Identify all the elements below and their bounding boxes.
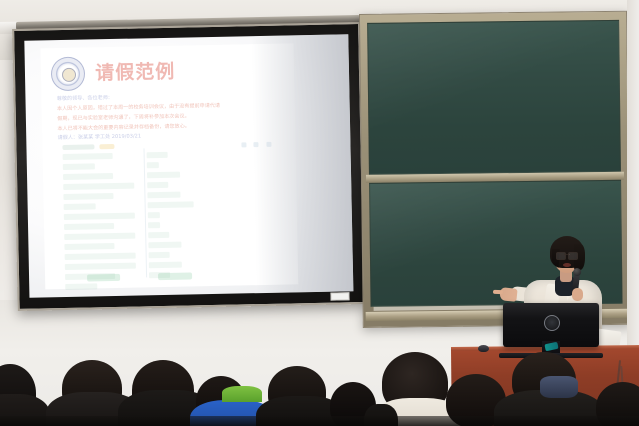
lecturer-right-hand (572, 288, 583, 301)
form-row (147, 182, 168, 188)
audience-foreground-shadow (0, 416, 639, 426)
form-row (148, 192, 180, 199)
form-toolbar (62, 142, 187, 151)
form-row (65, 283, 97, 290)
form-row (63, 183, 134, 190)
form-row (65, 263, 136, 270)
form-row (64, 223, 114, 230)
slide-header: 请假范例 (51, 48, 284, 91)
form-row (149, 262, 181, 269)
slide-form-screenshot (58, 140, 283, 285)
blackboard-panel-upper[interactable] (367, 20, 621, 175)
form-row (149, 242, 181, 249)
screen-unlit-band (251, 34, 353, 293)
screen-brand-label (330, 292, 349, 300)
form-row (63, 193, 113, 200)
lecturer-mouth (563, 263, 571, 267)
right-wall-strip (627, 0, 639, 350)
form-row (62, 153, 112, 160)
form-row (147, 172, 179, 179)
form-row (147, 152, 168, 158)
form-row (63, 203, 95, 210)
form-submit-button (87, 274, 120, 282)
form-row (64, 253, 135, 260)
toolbar-pill-filter (62, 145, 94, 150)
pointing-finger (493, 290, 503, 294)
form-row (63, 173, 113, 180)
form-row (64, 233, 135, 240)
jacket-green-trim (222, 386, 262, 402)
scarf (540, 376, 578, 398)
screen-frame: 请假范例 尊敬的领导、各位老师： 本人因个人原因，错过了本周一的校务培训会议，由… (12, 22, 366, 311)
projector-screen[interactable]: 请假范例 尊敬的领导、各位老师： 本人因个人原因，错过了本周一的校务培训会议，由… (12, 18, 366, 315)
slide-body-text: 尊敬的领导、各位老师： 本人因个人原因，错过了本周一的校务培训会议，由于没有提前… (57, 92, 280, 146)
form-left-column (62, 153, 140, 281)
lecturer-left-hand (499, 287, 517, 302)
classroom-scene: 请假范例 尊敬的领导、各位老师： 本人因个人原因，错过了本周一的校务培训会议，由… (0, 0, 639, 426)
dell-logo-icon (544, 315, 560, 331)
form-row (63, 164, 95, 171)
slide-title: 请假范例 (95, 56, 176, 85)
glasses-icon (556, 252, 578, 258)
form-row (148, 232, 169, 238)
control-dot (241, 142, 246, 147)
form-row (149, 252, 170, 258)
form-row (148, 212, 160, 218)
form-middle-column (147, 151, 198, 278)
form-row (148, 222, 160, 228)
form-row (64, 213, 135, 220)
form-row (148, 202, 194, 209)
audience-row (0, 330, 639, 426)
screen-surface: 请假范例 尊敬的领导、各位老师： 本人因个人原因，错过了本周一的校务培训会议，由… (24, 34, 353, 297)
form-row (147, 162, 159, 168)
form-cancel-button (158, 272, 191, 280)
university-crest-icon (51, 56, 86, 91)
toolbar-pill-export (100, 144, 115, 149)
form-row (64, 243, 114, 250)
